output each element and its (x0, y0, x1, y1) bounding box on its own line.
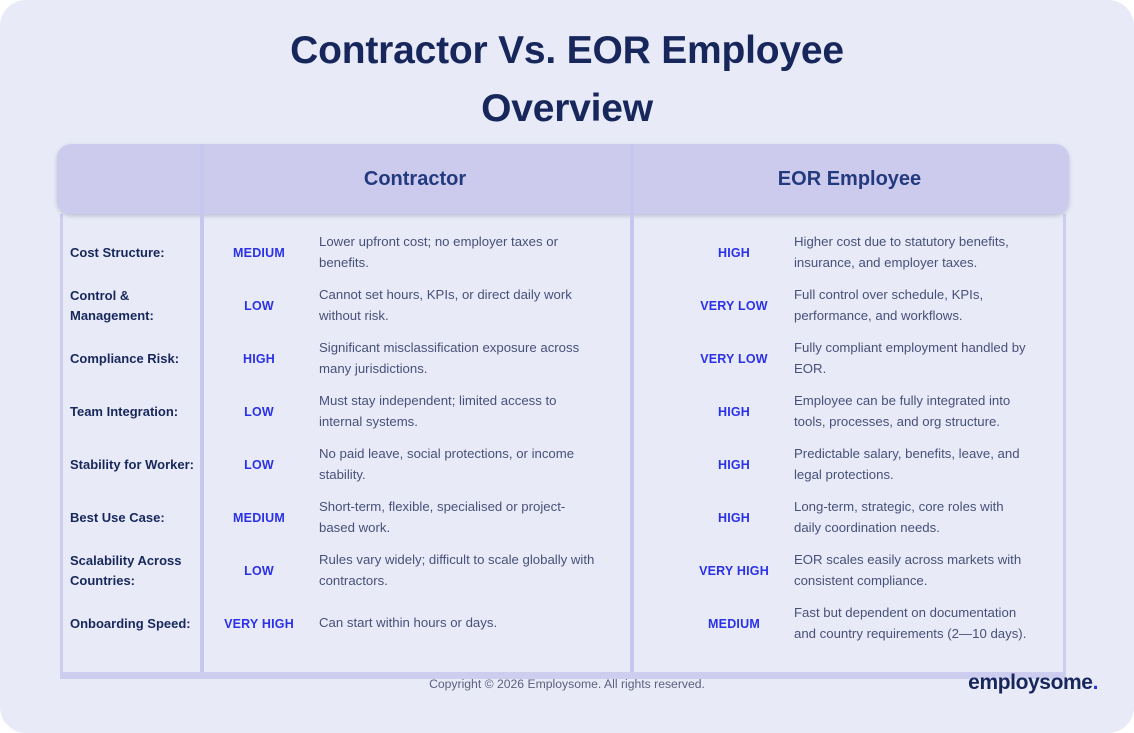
eor-description: Long-term, strategic, core roles with da… (790, 497, 1063, 537)
contractor-rating: VERY HIGH (203, 617, 315, 631)
table-row: Team Integration: LOW Must stay independ… (63, 385, 1063, 438)
row-label: Team Integration: (63, 402, 203, 422)
table-row: Control & Management: LOW Cannot set hou… (63, 279, 1063, 332)
table-body: Cost Structure: MEDIUM Lower upfront cos… (60, 214, 1066, 679)
table-header-row: Contractor EOR Employee (57, 144, 1069, 214)
eor-rating: HIGH (678, 511, 790, 525)
page-title-line-1: Contractor Vs. EOR Employee (0, 22, 1134, 80)
table-row: Stability for Worker: LOW No paid leave,… (63, 438, 1063, 491)
table-row: Compliance Risk: HIGH Significant miscla… (63, 332, 1063, 385)
row-label: Stability for Worker: (63, 455, 203, 475)
contractor-description: Can start within hours or days. (315, 613, 627, 633)
page-footer: Copyright © 2026 Employsome. All rights … (0, 671, 1134, 719)
contractor-rating: LOW (203, 299, 315, 313)
eor-rating: HIGH (678, 405, 790, 419)
row-label: Scalability Across Countries: (63, 551, 203, 590)
eor-rating: MEDIUM (678, 617, 790, 631)
table-row: Cost Structure: MEDIUM Lower upfront cos… (63, 226, 1063, 279)
page-title: Contractor Vs. EOR Employee Overview (0, 0, 1134, 138)
infographic-page: Contractor Vs. EOR Employee Overview Con… (0, 0, 1134, 733)
table-header-label-column (57, 144, 200, 214)
employsome-logo: employsome. (968, 671, 1098, 695)
contractor-description: Must stay independent; limited access to… (315, 391, 627, 431)
table-row: Scalability Across Countries: LOW Rules … (63, 544, 1063, 597)
eor-description: Fast but dependent on documentation and … (790, 603, 1063, 643)
contractor-description: No paid leave, social protections, or in… (315, 444, 627, 484)
eor-rating: HIGH (678, 458, 790, 472)
row-label: Best Use Case: (63, 508, 203, 528)
contractor-rating: MEDIUM (203, 511, 315, 525)
eor-description: Predictable salary, benefits, leave, and… (790, 444, 1063, 484)
table-row: Onboarding Speed: VERY HIGH Can start wi… (63, 597, 1063, 650)
copyright-text: Copyright © 2026 Employsome. All rights … (0, 677, 1134, 691)
row-label: Control & Management: (63, 286, 203, 325)
contractor-description: Lower upfront cost; no employer taxes or… (315, 232, 627, 272)
page-title-line-2: Overview (0, 80, 1134, 138)
contractor-description: Cannot set hours, KPIs, or direct daily … (315, 285, 627, 325)
logo-wordmark: employsome (968, 671, 1092, 694)
comparison-table: Contractor EOR Employee Cost Structure: … (57, 144, 1069, 679)
eor-description: Fully compliant employment handled by EO… (790, 338, 1063, 378)
row-label: Onboarding Speed: (63, 614, 203, 634)
eor-rating: HIGH (678, 246, 790, 260)
contractor-description: Significant misclassification exposure a… (315, 338, 627, 378)
eor-description: Employee can be fully integrated into to… (790, 391, 1063, 431)
eor-description: Higher cost due to statutory benefits, i… (790, 232, 1063, 272)
eor-rating: VERY LOW (678, 352, 790, 366)
eor-description: EOR scales easily across markets with co… (790, 550, 1063, 590)
eor-rating: VERY HIGH (678, 564, 790, 578)
table-header-contractor: Contractor (200, 144, 630, 214)
table-row: Best Use Case: MEDIUM Short-term, flexib… (63, 491, 1063, 544)
logo-dot: . (1093, 671, 1098, 694)
table-header-eor-employee: EOR Employee (630, 144, 1069, 214)
row-label: Cost Structure: (63, 243, 203, 263)
eor-rating: VERY LOW (678, 299, 790, 313)
contractor-description: Short-term, flexible, specialised or pro… (315, 497, 627, 537)
row-label: Compliance Risk: (63, 349, 203, 369)
contractor-rating: LOW (203, 458, 315, 472)
contractor-rating: MEDIUM (203, 246, 315, 260)
eor-description: Full control over schedule, KPIs, perfor… (790, 285, 1063, 325)
contractor-description: Rules vary widely; difficult to scale gl… (315, 550, 627, 590)
contractor-rating: LOW (203, 405, 315, 419)
contractor-rating: HIGH (203, 352, 315, 366)
contractor-rating: LOW (203, 564, 315, 578)
